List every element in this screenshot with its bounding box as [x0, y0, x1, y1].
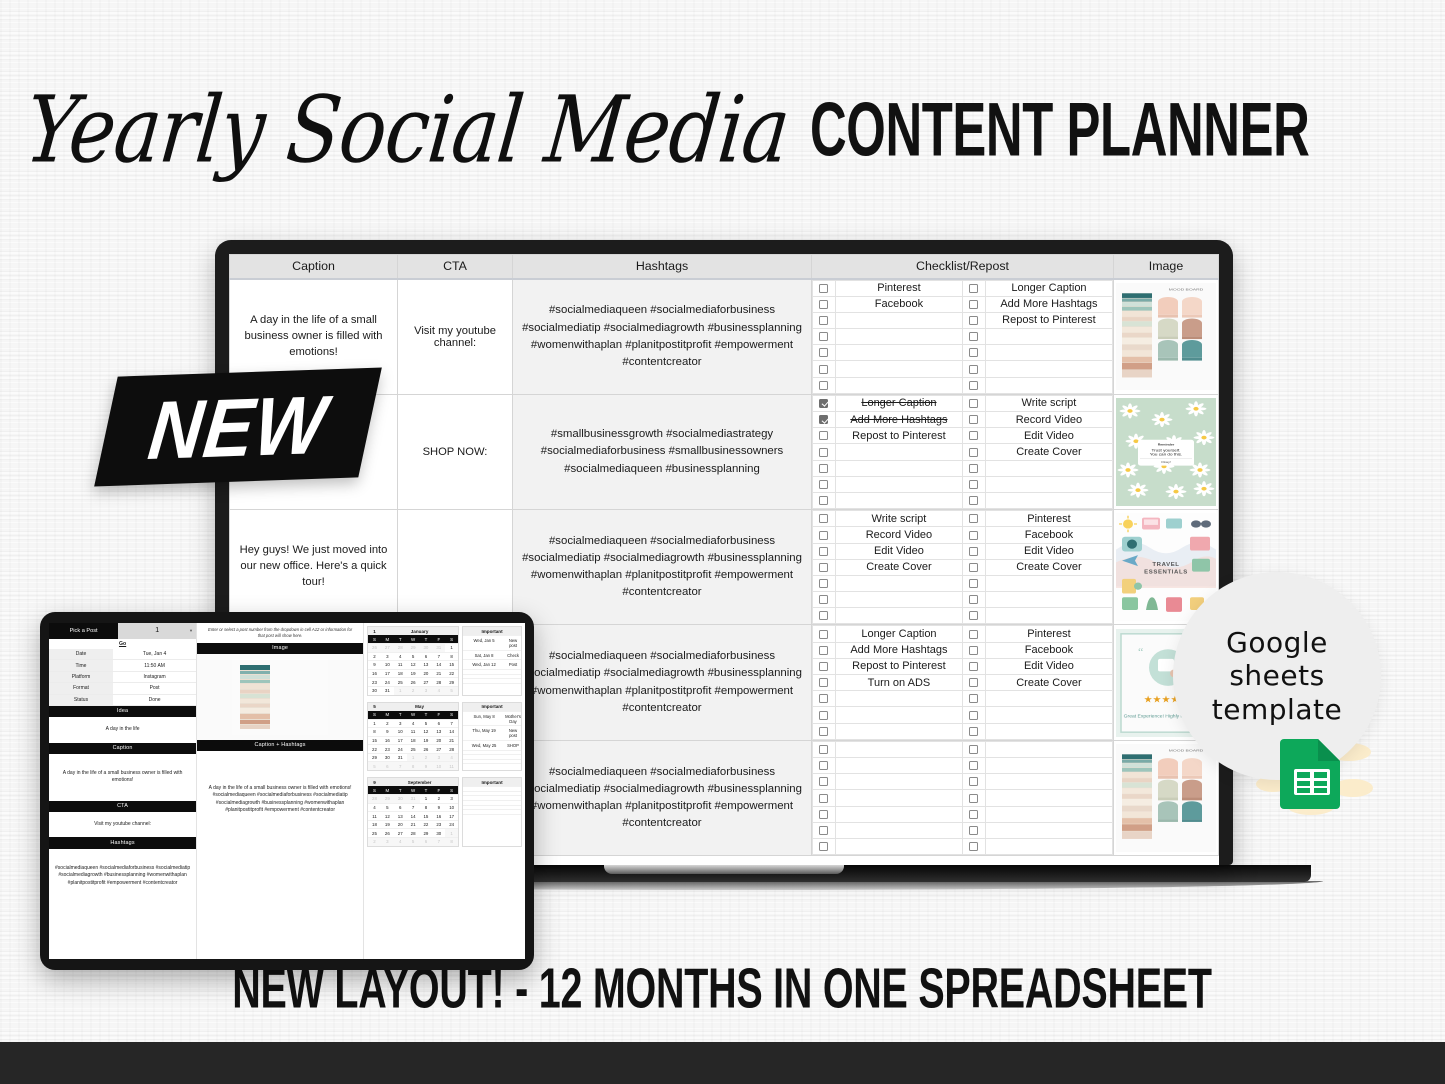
calendar-day[interactable]: 31: [407, 794, 420, 803]
cell-cta[interactable]: SHOP NOW:: [398, 394, 513, 509]
checkbox-icon[interactable]: [819, 842, 828, 851]
calendar-day[interactable]: 13: [394, 811, 407, 820]
checkbox-icon[interactable]: [969, 365, 978, 374]
checkbox-cell-left[interactable]: [813, 741, 836, 757]
checklist-label-right[interactable]: [985, 361, 1112, 377]
checkbox-cell-right[interactable]: [962, 806, 985, 822]
pick-a-post-row[interactable]: Pick a Post 1 ▾: [49, 623, 196, 639]
checklist-label-left[interactable]: [835, 707, 962, 723]
calendar-day[interactable]: 31: [381, 686, 394, 695]
checklist-label-right[interactable]: [985, 492, 1112, 508]
calendar-day[interactable]: 5: [445, 686, 458, 695]
important-date[interactable]: [463, 675, 505, 679]
column-header-image[interactable]: Image: [1114, 255, 1219, 279]
checkbox-icon[interactable]: [969, 563, 978, 572]
checkbox-cell-left[interactable]: [813, 757, 836, 773]
cell-image[interactable]: Reminder Trust yourself. You can do this…: [1114, 394, 1219, 509]
calendar-day[interactable]: 19: [381, 820, 394, 829]
calendar-day[interactable]: 25: [407, 744, 420, 753]
checkbox-icon[interactable]: [819, 316, 828, 325]
checkbox-icon[interactable]: [819, 745, 828, 754]
important-date-text[interactable]: [505, 679, 521, 683]
checkbox-cell-right[interactable]: [962, 790, 985, 806]
calendar-day[interactable]: 11: [368, 811, 381, 820]
table-row[interactable]: Hey guys! We just moved into our new off…: [230, 510, 1219, 625]
calendar-day[interactable]: 25: [368, 828, 381, 837]
checkbox-icon[interactable]: [819, 794, 828, 803]
checkbox-cell-left[interactable]: [813, 377, 836, 393]
checkbox-cell-left[interactable]: [813, 723, 836, 739]
important-date[interactable]: [463, 792, 505, 796]
calendar-day[interactable]: 17: [445, 811, 458, 820]
checklist-label-left[interactable]: [835, 361, 962, 377]
calendar-day[interactable]: 20: [432, 736, 445, 745]
checkbox-cell-left[interactable]: [813, 626, 836, 642]
checkbox-icon[interactable]: [819, 611, 828, 620]
important-date-text[interactable]: [505, 755, 521, 759]
checkbox-icon[interactable]: [969, 579, 978, 588]
checklist-label-left[interactable]: [835, 345, 962, 361]
important-date[interactable]: [463, 760, 505, 764]
checklist-label-left[interactable]: [835, 774, 962, 790]
checklist-label-left[interactable]: [835, 460, 962, 476]
checkbox-cell-left[interactable]: [813, 691, 836, 707]
calendar-day[interactable]: 9: [368, 660, 381, 669]
calendar-day[interactable]: 31: [432, 643, 445, 652]
checkbox-icon[interactable]: [819, 595, 828, 604]
calendar-day[interactable]: 1: [394, 686, 407, 695]
checkbox-icon[interactable]: [969, 842, 978, 851]
checkbox-cell-right[interactable]: [962, 838, 985, 854]
calendar-day[interactable]: 11: [445, 761, 458, 770]
checklist-label-right[interactable]: [985, 723, 1112, 739]
checkbox-cell-left[interactable]: [813, 296, 836, 312]
calendar-day[interactable]: 5: [381, 803, 394, 812]
calendar-day[interactable]: 30: [420, 643, 433, 652]
checkbox-cell-left[interactable]: [813, 280, 836, 296]
calendar-day[interactable]: 8: [445, 652, 458, 661]
important-date[interactable]: [463, 684, 505, 688]
important-date-text[interactable]: Check: [505, 651, 521, 660]
checkbox-icon[interactable]: [819, 826, 828, 835]
calendar-day[interactable]: 5: [407, 837, 420, 846]
checkbox-icon[interactable]: [969, 431, 978, 440]
tablet-field-value[interactable]: Post: [113, 683, 196, 693]
checklist-label-left[interactable]: [835, 608, 962, 624]
checklist-label-left[interactable]: [835, 691, 962, 707]
calendar-day[interactable]: 15: [445, 660, 458, 669]
checkbox-icon[interactable]: [819, 727, 828, 736]
calendar-day[interactable]: 21: [445, 736, 458, 745]
important-date[interactable]: [463, 679, 505, 683]
checkbox-icon[interactable]: [819, 365, 828, 374]
checklist-label-left[interactable]: [835, 790, 962, 806]
important-date-text[interactable]: [505, 815, 521, 819]
calendar-day[interactable]: 3: [394, 719, 407, 728]
checkbox-cell-left[interactable]: [813, 412, 836, 428]
important-date-text[interactable]: [505, 675, 521, 679]
calendar-day[interactable]: 4: [368, 803, 381, 812]
mini-calendar[interactable]: 5MaySMTWTFS12345678910111213141516171819…: [367, 702, 459, 772]
column-header-cta[interactable]: CTA: [398, 255, 513, 279]
calendar-day[interactable]: 7: [394, 761, 407, 770]
important-date-text[interactable]: [505, 751, 521, 755]
important-date[interactable]: [463, 806, 505, 810]
important-date-text[interactable]: [505, 810, 521, 814]
calendar-day[interactable]: 1: [445, 643, 458, 652]
calendar-day[interactable]: 1: [420, 794, 433, 803]
cell-cta[interactable]: [398, 510, 513, 625]
checkbox-cell-left[interactable]: [813, 608, 836, 624]
calendar-day[interactable]: 27: [381, 643, 394, 652]
calendar-day[interactable]: 6: [420, 652, 433, 661]
checkbox-cell-right[interactable]: [962, 428, 985, 444]
checklist-label-left[interactable]: Facebook: [835, 296, 962, 312]
checkbox-icon[interactable]: [969, 694, 978, 703]
checkbox-icon[interactable]: [819, 563, 828, 572]
checklist-label-right[interactable]: Add More Hashtags: [985, 296, 1112, 312]
calendar-day[interactable]: 13: [432, 727, 445, 736]
calendar-day[interactable]: 29: [407, 643, 420, 652]
cell-checklist[interactable]: [812, 740, 1114, 855]
important-date[interactable]: Wed, Jan 12: [463, 660, 505, 669]
important-date[interactable]: Wed, May 25: [463, 741, 505, 750]
calendar-day[interactable]: 7: [432, 652, 445, 661]
checkbox-cell-right[interactable]: [962, 444, 985, 460]
calendar-day[interactable]: 3: [420, 686, 433, 695]
checkbox-cell-right[interactable]: [962, 658, 985, 674]
checkbox-cell-right[interactable]: [962, 592, 985, 608]
checkbox-cell-right[interactable]: [962, 511, 985, 527]
calendar-day[interactable]: 27: [432, 744, 445, 753]
caption-hashtags-value[interactable]: A day in the life of a small business ow…: [197, 751, 363, 821]
calendar-day[interactable]: 22: [368, 744, 381, 753]
checklist-label-left[interactable]: [835, 838, 962, 854]
calendar-day[interactable]: 15: [420, 811, 433, 820]
checkbox-icon[interactable]: [969, 646, 978, 655]
calendar-day[interactable]: 16: [368, 669, 381, 678]
checklist-label-right[interactable]: [985, 345, 1112, 361]
checklist-label-right[interactable]: [985, 377, 1112, 393]
checklist-label-left[interactable]: Longer Caption: [835, 395, 962, 411]
cell-checklist[interactable]: Longer CaptionWrite scriptAdd More Hasht…: [812, 394, 1114, 509]
checkbox-cell-right[interactable]: [962, 527, 985, 543]
cell-hashtags[interactable]: #socialmediaqueen #socialmediaforbusines…: [513, 510, 812, 625]
checklist-label-right[interactable]: [985, 774, 1112, 790]
checkbox-cell-right[interactable]: [962, 626, 985, 642]
calendar-day[interactable]: 25: [394, 677, 407, 686]
calendar-day[interactable]: 3: [381, 652, 394, 661]
checkbox-icon[interactable]: [969, 300, 978, 309]
checklist-label-right[interactable]: Pinterest: [985, 626, 1112, 642]
calendar-day[interactable]: 1: [407, 753, 420, 762]
checkbox-cell-left[interactable]: [813, 476, 836, 492]
go-button[interactable]: Go: [49, 639, 196, 649]
important-date[interactable]: [463, 755, 505, 759]
calendar-day[interactable]: 22: [445, 669, 458, 678]
important-date-text[interactable]: SHOP: [505, 741, 521, 750]
calendar-day[interactable]: 6: [432, 719, 445, 728]
checklist-label-left[interactable]: [835, 476, 962, 492]
calendar-day[interactable]: 4: [394, 837, 407, 846]
calendar-day[interactable]: 8: [445, 837, 458, 846]
calendar-day[interactable]: 3: [445, 794, 458, 803]
checkbox-cell-left[interactable]: [813, 444, 836, 460]
checkbox-icon[interactable]: [969, 745, 978, 754]
checkbox-cell-left[interactable]: [813, 460, 836, 476]
checkbox-cell-left[interactable]: [813, 428, 836, 444]
checklist-label-right[interactable]: [985, 790, 1112, 806]
important-date[interactable]: [463, 815, 505, 819]
checklist-label-right[interactable]: [985, 592, 1112, 608]
checkbox-icon[interactable]: [969, 348, 978, 357]
checklist-label-left[interactable]: Turn on ADS: [835, 675, 962, 691]
calendar-day[interactable]: 10: [432, 761, 445, 770]
calendar-day[interactable]: 5: [368, 761, 381, 770]
calendar-day[interactable]: 12: [420, 727, 433, 736]
calendar-day[interactable]: 21: [407, 820, 420, 829]
checkbox-icon[interactable]: [969, 826, 978, 835]
checklist-label-left[interactable]: [835, 444, 962, 460]
calendar-day[interactable]: 6: [381, 761, 394, 770]
checklist-label-right[interactable]: [985, 460, 1112, 476]
checklist-label-right[interactable]: [985, 329, 1112, 345]
important-date-text[interactable]: [505, 801, 521, 805]
checkbox-cell-right[interactable]: [962, 460, 985, 476]
checklist-label-right[interactable]: Edit Video: [985, 428, 1112, 444]
calendar-day[interactable]: 9: [432, 803, 445, 812]
checkbox-icon[interactable]: [819, 646, 828, 655]
checklist-label-right[interactable]: Create Cover: [985, 559, 1112, 575]
checkbox-cell-right[interactable]: [962, 642, 985, 658]
checkbox-cell-left[interactable]: [813, 511, 836, 527]
calendar-day[interactable]: 20: [420, 669, 433, 678]
checkbox-cell-right[interactable]: [962, 329, 985, 345]
checklist-label-right[interactable]: Record Video: [985, 412, 1112, 428]
important-date-text[interactable]: [505, 787, 521, 791]
important-date[interactable]: [463, 787, 505, 791]
checkbox-icon[interactable]: [969, 464, 978, 473]
calendar-day[interactable]: 4: [432, 686, 445, 695]
checkbox-icon[interactable]: [969, 611, 978, 620]
column-header-checklist-repost[interactable]: Checklist/Repost: [812, 255, 1114, 279]
checkbox-icon[interactable]: [819, 284, 828, 293]
checkbox-icon[interactable]: [819, 448, 828, 457]
calendar-day[interactable]: 22: [420, 820, 433, 829]
calendar-day[interactable]: 10: [445, 803, 458, 812]
checklist-label-left[interactable]: [835, 592, 962, 608]
calendar-day[interactable]: 4: [394, 652, 407, 661]
checklist-label-right[interactable]: [985, 476, 1112, 492]
checkbox-cell-right[interactable]: [962, 707, 985, 723]
checkbox-icon[interactable]: [819, 547, 828, 556]
calendar-day[interactable]: 2: [407, 686, 420, 695]
checkbox-icon[interactable]: [969, 514, 978, 523]
checklist-label-right[interactable]: [985, 691, 1112, 707]
calendar-day[interactable]: 28: [368, 794, 381, 803]
calendar-day[interactable]: 2: [381, 719, 394, 728]
checklist-label-left[interactable]: [835, 723, 962, 739]
checklist-label-left[interactable]: [835, 312, 962, 328]
checkbox-icon[interactable]: [969, 547, 978, 556]
calendar-day[interactable]: 28: [445, 744, 458, 753]
checkbox-icon[interactable]: [819, 480, 828, 489]
checkbox-cell-left[interactable]: [813, 345, 836, 361]
calendar-day[interactable]: 19: [407, 669, 420, 678]
checkbox-icon[interactable]: [969, 284, 978, 293]
checkbox-icon[interactable]: [819, 531, 828, 540]
checkbox-icon[interactable]: [819, 694, 828, 703]
calendar-day[interactable]: 10: [381, 660, 394, 669]
checkbox-cell-left[interactable]: [813, 642, 836, 658]
calendar-day[interactable]: 3: [381, 837, 394, 846]
checkbox-cell-left[interactable]: [813, 658, 836, 674]
important-date-text[interactable]: [505, 792, 521, 796]
checklist-label-right[interactable]: Pinterest: [985, 511, 1112, 527]
calendar-day[interactable]: 7: [432, 837, 445, 846]
checklist-label-right[interactable]: Edit Video: [985, 658, 1112, 674]
checkbox-icon[interactable]: [819, 630, 828, 639]
calendar-day[interactable]: 24: [445, 820, 458, 829]
calendar-day[interactable]: 26: [381, 828, 394, 837]
calendar-day[interactable]: 10: [394, 727, 407, 736]
checkbox-icon[interactable]: [969, 381, 978, 390]
calendar-day[interactable]: 3: [432, 753, 445, 762]
calendar-day[interactable]: 30: [368, 686, 381, 695]
calendar-day[interactable]: 30: [381, 753, 394, 762]
calendar-day[interactable]: 16: [432, 811, 445, 820]
checklist-label-right[interactable]: [985, 822, 1112, 838]
checkbox-cell-right[interactable]: [962, 361, 985, 377]
checklist-label-right[interactable]: Create Cover: [985, 444, 1112, 460]
checkbox-cell-right[interactable]: [962, 296, 985, 312]
calendar-day[interactable]: 27: [420, 677, 433, 686]
checklist-label-right[interactable]: [985, 741, 1112, 757]
checkbox-cell-right[interactable]: [962, 312, 985, 328]
checklist-label-right[interactable]: [985, 575, 1112, 591]
hashtags-value[interactable]: #socialmediaqueen #socialmediaforbusines…: [49, 849, 196, 904]
checkbox-icon[interactable]: [819, 761, 828, 770]
tablet-field-value[interactable]: Tue, Jan 4: [113, 649, 196, 659]
calendar-day[interactable]: 7: [445, 719, 458, 728]
calendar-day[interactable]: 26: [368, 643, 381, 652]
calendar-day[interactable]: 7: [407, 803, 420, 812]
calendar-day[interactable]: 15: [368, 736, 381, 745]
cell-checklist[interactable]: PinterestLonger CaptionFacebookAdd More …: [812, 279, 1114, 395]
cell-hashtags[interactable]: #smallbusinessgrowth #socialmediastrateg…: [513, 394, 812, 509]
calendar-day[interactable]: 5: [407, 652, 420, 661]
important-date[interactable]: [463, 801, 505, 805]
important-date[interactable]: Thu, May 19: [463, 726, 505, 740]
calendar-day[interactable]: 12: [407, 660, 420, 669]
column-header-caption[interactable]: Caption: [230, 255, 398, 279]
checkbox-icon[interactable]: [969, 399, 978, 408]
calendar-day[interactable]: 26: [420, 744, 433, 753]
calendar-day[interactable]: 11: [394, 660, 407, 669]
checkbox-cell-left[interactable]: [813, 527, 836, 543]
checkbox-icon[interactable]: [969, 480, 978, 489]
checklist-label-right[interactable]: [985, 806, 1112, 822]
checklist-label-right[interactable]: [985, 757, 1112, 773]
calendar-day[interactable]: 16: [381, 736, 394, 745]
checkbox-icon[interactable]: [819, 399, 828, 408]
checkbox-cell-right[interactable]: [962, 395, 985, 411]
calendar-day[interactable]: 18: [368, 820, 381, 829]
mini-calendar[interactable]: 9SeptemberSMTWTFS28293031123456789101112…: [367, 777, 459, 847]
checkbox-icon[interactable]: [969, 794, 978, 803]
calendar-day[interactable]: 29: [381, 794, 394, 803]
checkbox-icon[interactable]: [819, 662, 828, 671]
pick-a-post-dropdown[interactable]: 1 ▾: [118, 623, 196, 639]
checkbox-cell-right[interactable]: [962, 757, 985, 773]
checklist-label-right[interactable]: [985, 838, 1112, 854]
calendar-day[interactable]: 12: [381, 811, 394, 820]
important-date[interactable]: [463, 796, 505, 800]
checkbox-cell-left[interactable]: [813, 361, 836, 377]
checkbox-cell-left[interactable]: [813, 543, 836, 559]
checkbox-icon[interactable]: [819, 496, 828, 505]
important-date[interactable]: [463, 670, 505, 674]
idea-value[interactable]: A day in the life: [49, 717, 196, 743]
important-date[interactable]: Wed, Jan 5: [463, 636, 505, 650]
checklist-label-right[interactable]: Create Cover: [985, 675, 1112, 691]
checklist-label-left[interactable]: Add More Hashtags: [835, 642, 962, 658]
important-date-text[interactable]: Mother's Day: [505, 712, 521, 726]
checkbox-cell-right[interactable]: [962, 723, 985, 739]
checklist-label-left[interactable]: Add More Hashtags: [835, 412, 962, 428]
checkbox-cell-left[interactable]: [813, 806, 836, 822]
tablet-field-value[interactable]: Done: [113, 695, 196, 705]
cell-hashtags[interactable]: #socialmediaqueen #socialmediaforbusines…: [513, 625, 812, 740]
checkbox-cell-right[interactable]: [962, 345, 985, 361]
mini-calendar[interactable]: 1JanuarySMTWTFS2627282930311234567891011…: [367, 626, 459, 696]
important-date-text[interactable]: [505, 760, 521, 764]
cell-hashtags[interactable]: #socialmediaqueen #socialmediaforbusines…: [513, 740, 812, 855]
checklist-label-left[interactable]: [835, 741, 962, 757]
checklist-label-left[interactable]: Repost to Pinterest: [835, 658, 962, 674]
cell-checklist[interactable]: Write scriptPinterestRecord VideoFaceboo…: [812, 510, 1114, 625]
checkbox-icon[interactable]: [969, 761, 978, 770]
calendar-day[interactable]: 6: [394, 803, 407, 812]
calendar-day[interactable]: 17: [394, 736, 407, 745]
calendar-day[interactable]: 20: [394, 820, 407, 829]
calendar-day[interactable]: 21: [432, 669, 445, 678]
checklist-label-left[interactable]: Longer Caption: [835, 626, 962, 642]
checkbox-cell-right[interactable]: [962, 543, 985, 559]
important-date[interactable]: [463, 764, 505, 768]
checkbox-icon[interactable]: [969, 496, 978, 505]
checkbox-icon[interactable]: [819, 431, 828, 440]
calendar-day[interactable]: 18: [407, 736, 420, 745]
checkbox-cell-right[interactable]: [962, 492, 985, 508]
calendar-day[interactable]: 13: [420, 660, 433, 669]
checkbox-cell-left[interactable]: [813, 492, 836, 508]
checkbox-cell-left[interactable]: [813, 675, 836, 691]
checkbox-icon[interactable]: [969, 777, 978, 786]
checkbox-icon[interactable]: [969, 316, 978, 325]
checkbox-icon[interactable]: [969, 448, 978, 457]
calendar-day[interactable]: 31: [394, 753, 407, 762]
cell-cta[interactable]: Visit my youtube channel:: [398, 279, 513, 395]
calendar-day[interactable]: 26: [407, 677, 420, 686]
important-date[interactable]: [463, 751, 505, 755]
cell-checklist[interactable]: Longer CaptionPinterestAdd More Hashtags…: [812, 625, 1114, 740]
checklist-label-right[interactable]: Facebook: [985, 527, 1112, 543]
checklist-label-right[interactable]: Edit Video: [985, 543, 1112, 559]
checkbox-icon[interactable]: [969, 810, 978, 819]
checklist-label-right[interactable]: Repost to Pinterest: [985, 312, 1112, 328]
calendar-day[interactable]: 2: [368, 837, 381, 846]
